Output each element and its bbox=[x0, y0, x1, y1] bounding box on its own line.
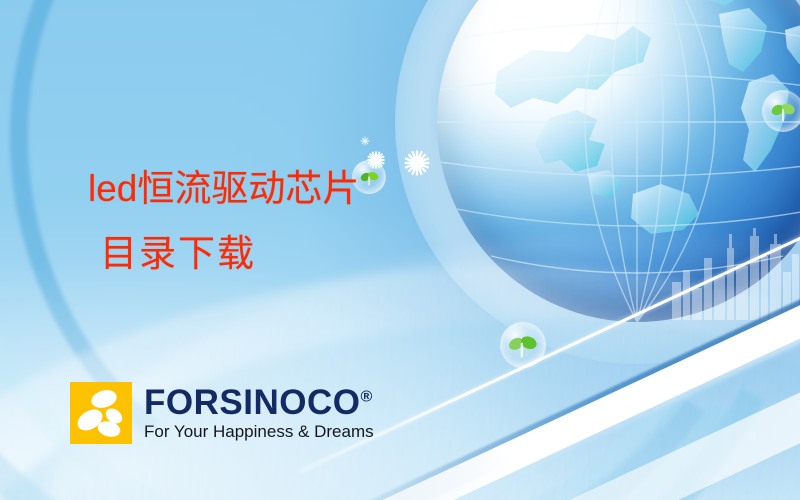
sparkle-flower-large bbox=[404, 150, 430, 176]
brand-tagline: For Your Happiness & Dreams bbox=[144, 423, 374, 442]
promo-banner: led恒流驱动芯片 目录下载 FORSINOCO® For Your Happi… bbox=[0, 0, 800, 500]
headline-line-1: led恒流驱动芯片 bbox=[88, 170, 359, 207]
brand-name-text: FORSINOCO bbox=[144, 383, 360, 422]
headline-line-2: 目录下载 bbox=[100, 235, 256, 272]
bubble-sprout-center bbox=[500, 322, 546, 368]
forsinoco-logo: FORSINOCO® For Your Happiness & Dreams bbox=[70, 382, 374, 444]
bubble-sprout-right bbox=[762, 90, 800, 132]
sparkle-flower-small bbox=[360, 136, 370, 146]
registered-trademark-icon: ® bbox=[360, 388, 372, 405]
green-sprout-icon bbox=[762, 90, 800, 132]
logo-text-block: FORSINOCO® For Your Happiness & Dreams bbox=[144, 385, 374, 442]
forsinoco-flower-mark bbox=[70, 382, 132, 444]
headline-latin-prefix: led bbox=[88, 168, 137, 209]
green-sprout-icon bbox=[500, 322, 546, 368]
brand-name: FORSINOCO® bbox=[144, 385, 374, 420]
headline-line-1-cn: 恒流驱动芯片 bbox=[137, 167, 359, 210]
